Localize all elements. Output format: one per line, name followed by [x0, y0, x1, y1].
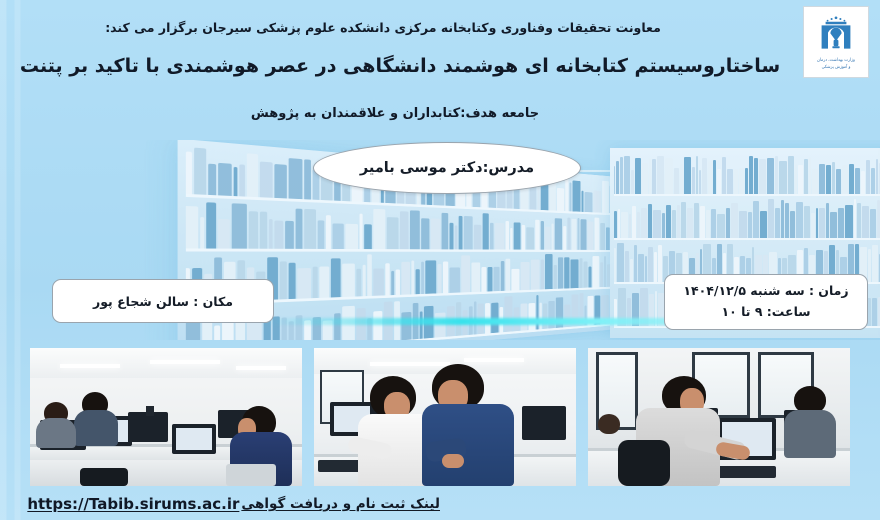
- registration-link-label: لینک ثبت نام و دریافت گواهی: [241, 496, 440, 512]
- photo-strip: [0, 348, 880, 488]
- logo-caption-line2: و آموزش پزشکی: [822, 64, 851, 70]
- photo-computer-lab-room: [30, 348, 302, 486]
- time-hour-line: ساعت: ۹ تا ۱۰: [721, 304, 810, 321]
- speaker-callout: مدرس:دکتر موسی بامیر: [313, 142, 581, 194]
- registration-url[interactable]: https://Tabib.sirums.ac.ir: [27, 495, 239, 513]
- ministry-emblem-icon: [816, 15, 856, 55]
- page-title: ساختاروسیستم کتابخانه ای هوشمند دانشگاهی…: [0, 55, 800, 77]
- logo-caption-line1: وزارت بهداشت، درمان: [817, 57, 855, 63]
- photo-student-at-computer: [588, 348, 850, 486]
- registration-link-row[interactable]: لینک ثبت نام و دریافت گواهی https://Tabi…: [0, 488, 880, 520]
- venue-label: مکان : سالن شجاع پور: [93, 294, 233, 309]
- time-date-line: زمان : سه شنبه ۱۴۰۴/۱۲/۵: [683, 283, 848, 300]
- organization-logo: وزارت بهداشت، درمان و آموزش پزشکی: [803, 6, 869, 78]
- venue-callout: مکان : سالن شجاع پور: [52, 279, 274, 323]
- speaker-label: مدرس:دکتر موسی بامیر: [360, 160, 534, 176]
- poster-canvas: معاونت تحقیقات وفناوری وکتابخانه مرکزی د…: [0, 0, 880, 520]
- time-callout: زمان : سه شنبه ۱۴۰۴/۱۲/۵ ساعت: ۹ تا ۱۰: [664, 274, 868, 330]
- host-line: معاونت تحقیقات وفناوری وکتابخانه مرکزی د…: [0, 20, 766, 35]
- target-audience-line: جامعه هدف:کتابداران و علاقمندان به پژوهش: [0, 106, 790, 121]
- photo-two-students: [314, 348, 576, 486]
